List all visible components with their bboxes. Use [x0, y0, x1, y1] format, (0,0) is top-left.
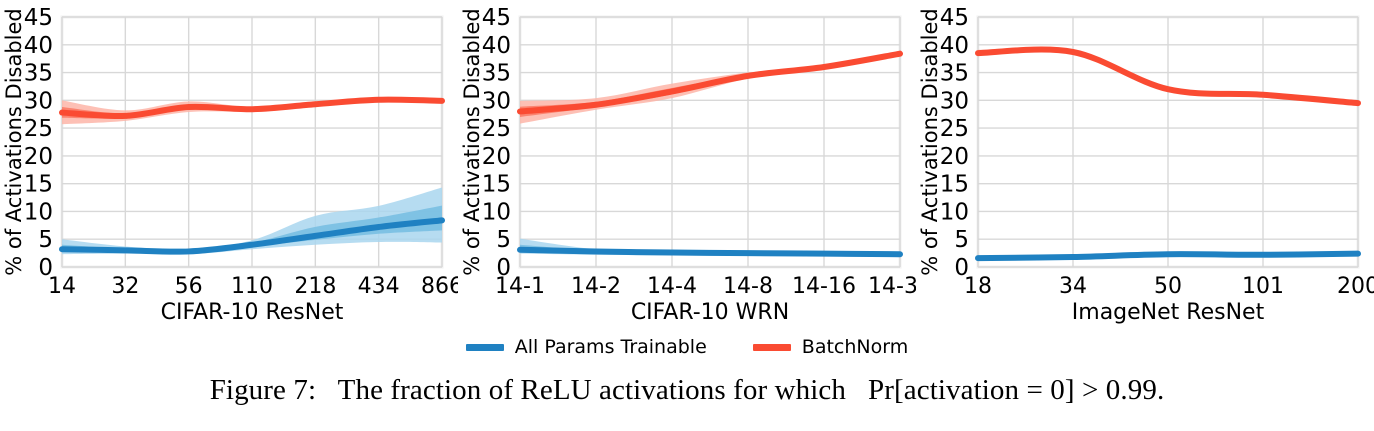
svg-text:14-2: 14-2	[571, 274, 621, 299]
chart-panels: 051015202530354045143256110218434866CIFA…	[0, 0, 1374, 330]
legend-swatch-red	[753, 344, 791, 351]
svg-text:15: 15	[482, 172, 511, 198]
svg-text:20: 20	[24, 144, 53, 170]
svg-text:10: 10	[482, 199, 511, 225]
figure-7: 051015202530354045143256110218434866CIFA…	[0, 0, 1374, 431]
svg-text:20: 20	[482, 144, 511, 170]
svg-text:45: 45	[940, 5, 969, 31]
svg-text:30: 30	[482, 88, 511, 114]
svg-text:25: 25	[24, 116, 53, 142]
svg-text:30: 30	[940, 88, 969, 114]
svg-text:14-8: 14-8	[723, 274, 773, 299]
svg-text:% of Activations Disabled: % of Activations Disabled	[460, 8, 484, 276]
svg-text:14: 14	[48, 274, 76, 299]
chart-panel-cifar10-wrn: 05101520253035404514-114-214-414-814-161…	[458, 0, 916, 330]
svg-text:14-4: 14-4	[647, 274, 697, 299]
svg-text:35: 35	[940, 61, 969, 87]
svg-text:40: 40	[940, 33, 969, 59]
svg-text:56: 56	[175, 274, 203, 299]
svg-text:5: 5	[38, 227, 53, 253]
svg-text:35: 35	[482, 61, 511, 87]
svg-text:14-32: 14-32	[868, 274, 916, 299]
legend-label-all-params-trainable: All Params Trainable	[515, 336, 707, 358]
chart-panel-cifar10-resnet: 051015202530354045143256110218434866CIFA…	[0, 0, 458, 330]
svg-text:% of Activations Disabled: % of Activations Disabled	[2, 8, 26, 276]
svg-text:34: 34	[1059, 274, 1087, 299]
svg-text:18: 18	[964, 274, 992, 299]
svg-text:866: 866	[421, 274, 458, 299]
caption-prefix: Figure 7:	[210, 374, 316, 406]
svg-text:32: 32	[111, 274, 139, 299]
svg-text:20: 20	[940, 144, 969, 170]
legend-entry-all-params-trainable[interactable]: All Params Trainable	[466, 336, 707, 358]
chart-legend: All Params Trainable BatchNorm	[0, 332, 1374, 362]
svg-text:45: 45	[24, 5, 53, 31]
chart-panel-imagenet-resnet: 051015202530354045183450101200ImageNet R…	[916, 0, 1374, 330]
svg-text:15: 15	[24, 172, 53, 198]
svg-text:434: 434	[358, 274, 400, 299]
svg-text:35: 35	[24, 61, 53, 87]
svg-text:45: 45	[482, 5, 511, 31]
svg-text:200: 200	[1337, 274, 1374, 299]
svg-text:5: 5	[496, 227, 511, 253]
svg-text:50: 50	[1154, 274, 1182, 299]
svg-text:40: 40	[482, 33, 511, 59]
svg-text:14-1: 14-1	[495, 274, 545, 299]
legend-label-batchnorm: BatchNorm	[802, 336, 908, 358]
svg-text:% of Activations Disabled: % of Activations Disabled	[918, 8, 942, 276]
svg-text:CIFAR-10 ResNet: CIFAR-10 ResNet	[161, 300, 344, 325]
svg-text:25: 25	[940, 116, 969, 142]
svg-text:110: 110	[231, 274, 273, 299]
legend-entry-batchnorm[interactable]: BatchNorm	[753, 336, 908, 358]
svg-text:10: 10	[24, 199, 53, 225]
legend-swatch-blue	[466, 344, 504, 351]
svg-text:5: 5	[954, 227, 969, 253]
svg-text:15: 15	[940, 172, 969, 198]
svg-text:101: 101	[1242, 274, 1284, 299]
svg-text:CIFAR-10 WRN: CIFAR-10 WRN	[631, 300, 789, 325]
svg-text:40: 40	[24, 33, 53, 59]
svg-text:14-16: 14-16	[792, 274, 856, 299]
caption-math: Pr[activation = 0] > 0.99.	[868, 374, 1164, 406]
svg-text:10: 10	[940, 199, 969, 225]
svg-text:30: 30	[24, 88, 53, 114]
figure-caption: Figure 7: The fraction of ReLU activatio…	[0, 374, 1374, 407]
caption-text: The fraction of ReLU activations for whi…	[338, 374, 846, 406]
svg-text:218: 218	[294, 274, 336, 299]
svg-text:ImageNet ResNet: ImageNet ResNet	[1072, 300, 1265, 325]
svg-text:25: 25	[482, 116, 511, 142]
